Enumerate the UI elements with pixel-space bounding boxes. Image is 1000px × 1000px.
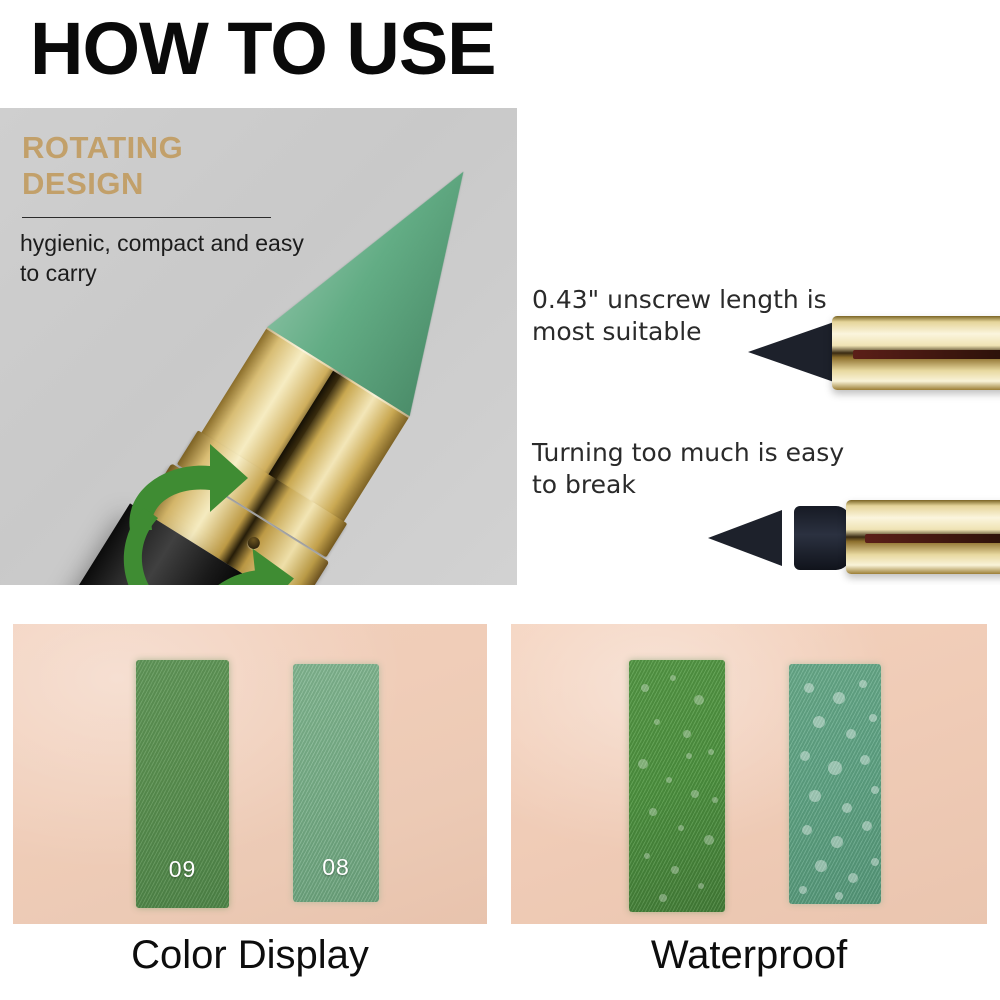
black-barrel (0, 503, 312, 585)
swatch-waterproof-light (789, 664, 881, 904)
infographic-page: HOW TO USE ROTATING DESIGN hygienic, com… (0, 0, 1000, 1000)
usage-tips-panel: 0.43" unscrew length is most suitable Tu… (520, 252, 1000, 585)
color-display-panel: 09 08 (13, 624, 487, 924)
rotating-design-subtext: hygienic, compact and easy to carry (20, 228, 310, 288)
broken-pencil-illustration (708, 494, 1000, 585)
pencil-body-stripe-broken (865, 534, 1000, 543)
swatch-09: 09 (136, 660, 229, 908)
rotating-design-panel: ROTATING DESIGN hygienic, compact and ea… (0, 108, 517, 585)
pencil-tip-broken-stub (794, 506, 850, 570)
page-title: HOW TO USE (30, 8, 630, 90)
swatch-09-label: 09 (136, 856, 229, 883)
rotating-design-heading-line1: ROTATING (22, 130, 322, 166)
color-display-caption: Color Display (13, 930, 487, 980)
pencil-gold-body-broken (846, 500, 1000, 574)
rotate-arrow-icon (98, 438, 348, 585)
waterproof-panel (511, 624, 987, 924)
water-droplets-dark (629, 660, 725, 912)
rotating-design-heading: ROTATING DESIGN (22, 130, 322, 202)
gold-collar-lower (142, 463, 329, 585)
tip-unscrew-length: 0.43" unscrew length is most suitable (532, 284, 862, 348)
heading-divider (22, 217, 271, 218)
swatch-08: 08 (293, 664, 379, 902)
pencil-body-stripe (853, 350, 1000, 359)
gold-collar-upper (200, 327, 409, 523)
swatch-waterproof-dark (629, 660, 725, 912)
gold-collar-mid (177, 430, 347, 557)
tip-turning-too-much: Turning too much is easy to break (532, 437, 862, 501)
swatch-08-label: 08 (293, 854, 379, 881)
pencil-tip-broken-piece (708, 510, 782, 566)
collar-pinhole-icon (246, 535, 263, 552)
water-droplets-light (789, 664, 881, 904)
rotating-design-heading-line2: DESIGN (22, 166, 322, 202)
collar-stripe (267, 371, 340, 481)
waterproof-caption: Waterproof (511, 930, 987, 980)
